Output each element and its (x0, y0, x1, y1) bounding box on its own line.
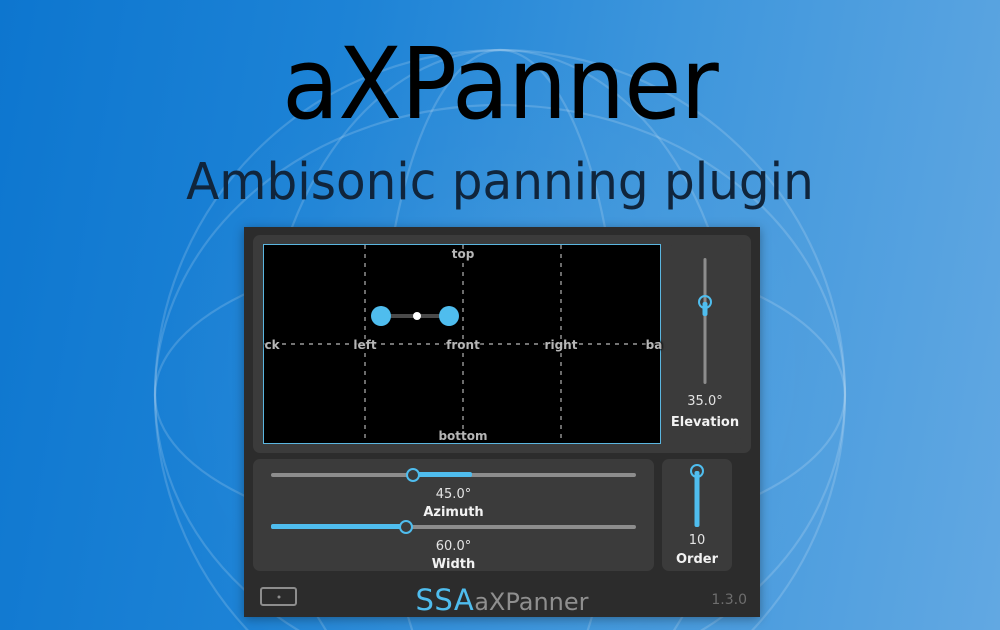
panner-display[interactable]: ck left front right ba top bottom (263, 244, 661, 444)
grid-label-left: left (353, 338, 376, 352)
order-control: 10 Order (662, 459, 732, 571)
page-root: aXPanner Ambisonic panning plugin ck lef… (0, 0, 1000, 630)
elevation-value: 35.0° (669, 394, 741, 409)
source-handle-center[interactable] (413, 312, 421, 320)
order-slider[interactable] (686, 471, 708, 527)
azimuth-thumb[interactable] (406, 468, 420, 482)
brand-product-text: aXPanner (474, 588, 588, 616)
width-fill (271, 524, 406, 529)
grid-label-back-left: ck (264, 338, 279, 352)
brand-logo: SSAaXPanner (244, 583, 760, 617)
order-label: Order (662, 552, 732, 567)
plugin-footer: SSAaXPanner 1.3.0 (244, 577, 760, 617)
order-thumb[interactable] (690, 464, 704, 478)
elevation-control: 35.0° Elevation (669, 244, 741, 444)
grid-label-top: top (452, 247, 475, 261)
elevation-track (704, 258, 707, 384)
angle-controls: 45.0° Azimuth 60.0° Width (253, 459, 654, 571)
azimuth-label: Azimuth (253, 505, 654, 520)
grid-label-right: right (545, 338, 578, 352)
azimuth-fill (413, 472, 471, 477)
azimuth-value: 45.0° (253, 487, 654, 502)
order-fill (695, 471, 700, 527)
source-handle-right[interactable] (439, 306, 459, 326)
order-value: 10 (662, 533, 732, 548)
panner-section: ck left front right ba top bottom (253, 235, 751, 453)
width-thumb[interactable] (399, 520, 413, 534)
elevation-thumb[interactable] (698, 295, 712, 309)
grid-label-front: front (446, 338, 480, 352)
page-subtitle: Ambisonic panning plugin (25, 155, 975, 211)
plugin-window: ck left front right ba top bottom (244, 227, 760, 617)
width-label: Width (253, 557, 654, 572)
elevation-label: Elevation (669, 415, 741, 430)
brand-ssa-text: SSA (415, 583, 474, 617)
version-label: 1.3.0 (711, 592, 747, 608)
source-handle-left[interactable] (371, 306, 391, 326)
width-value: 60.0° (253, 539, 654, 554)
elevation-slider[interactable] (694, 258, 716, 384)
page-title: aXPanner (30, 32, 970, 139)
grid-label-bottom: bottom (438, 429, 487, 443)
grid-label-back-right: ba (646, 338, 663, 352)
